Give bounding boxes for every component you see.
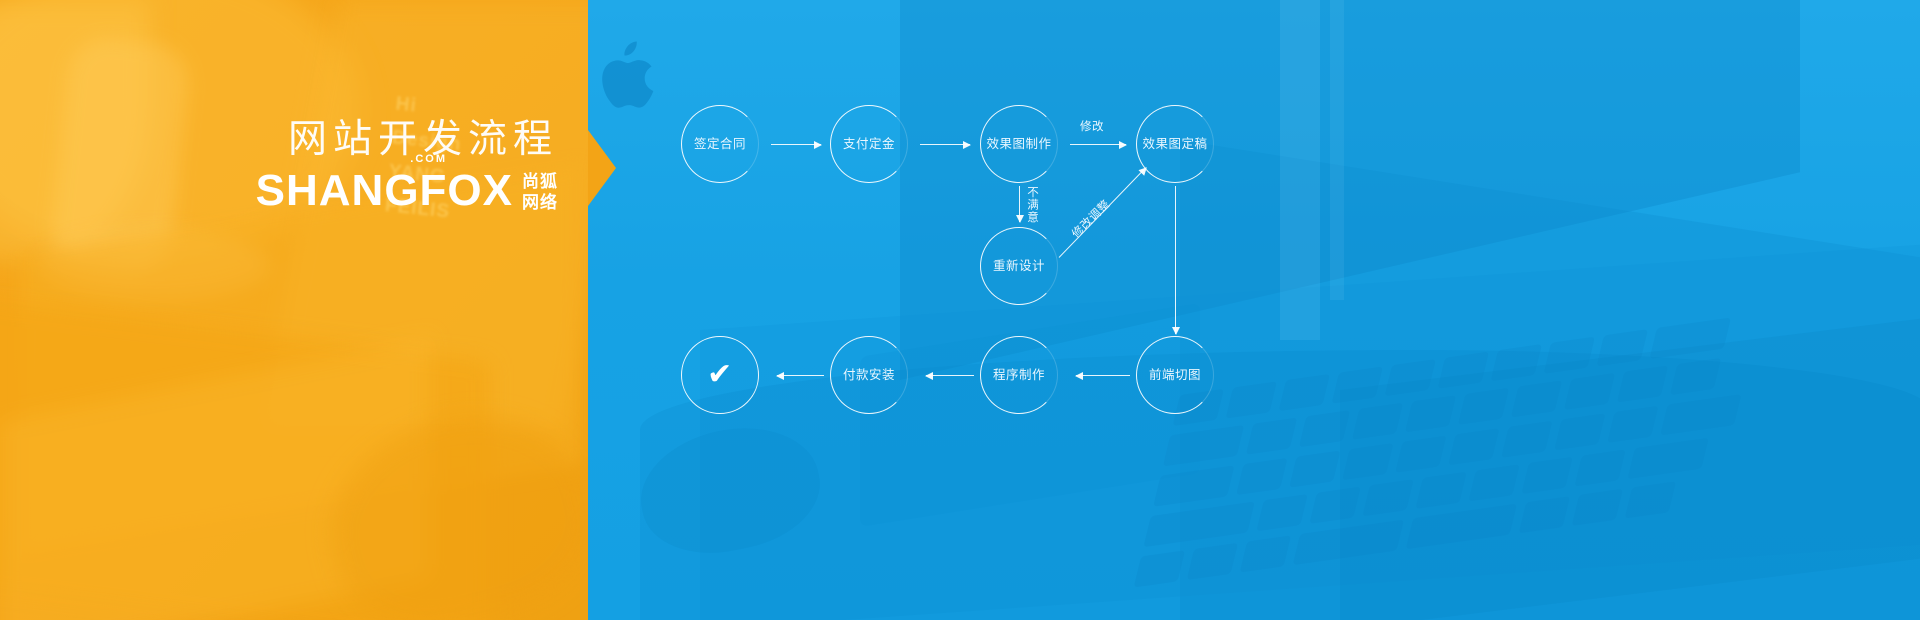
flow-arrow-1-2 (771, 144, 821, 145)
flow-node-label: 签定合同 (694, 137, 746, 151)
check-icon: ✔ (707, 360, 733, 390)
process-flowchart: 签定合同 支付定金 效果图制作 效果图定稿 修改 重新设计 不满意 修改调整 前… (0, 0, 1920, 620)
flow-node-label: 重新设计 (993, 259, 1045, 273)
flow-arrow-frontend-program (1076, 375, 1130, 376)
flow-node-complete[interactable]: ✔ (681, 336, 759, 414)
flow-node-sign-contract[interactable]: 签定合同 (681, 105, 759, 183)
flow-node-label: 支付定金 (843, 137, 895, 151)
flow-node-label: 前端切图 (1149, 368, 1201, 382)
flow-arrow-program-payment (926, 375, 974, 376)
flow-edge-label-not-satisfied: 不满意 (1026, 186, 1039, 224)
flow-arrow-3-redesign (1019, 186, 1020, 222)
flow-arrow-payment-complete (777, 375, 824, 376)
flow-node-label: 付款安装 (843, 368, 895, 382)
flow-node-program-development[interactable]: 程序制作 (980, 336, 1058, 414)
flow-node-redesign[interactable]: 重新设计 (980, 227, 1058, 305)
flow-arrow-2-3 (920, 144, 970, 145)
flow-edge-label-revise: 修改 (1080, 118, 1104, 134)
flow-edge-label-adjust: 修改调整 (1068, 196, 1113, 241)
flow-arrow-final-frontend (1175, 186, 1176, 334)
flow-node-label: 效果图制作 (986, 137, 1051, 151)
flow-node-pay-deposit[interactable]: 支付定金 (830, 105, 908, 183)
website-process-banner: HiDesignYANGFEILIS 网站开发流程 .COM SHANGFOX … (0, 0, 1920, 620)
flow-node-frontend-slicing[interactable]: 前端切图 (1136, 336, 1214, 414)
flow-arrow-3-4 (1070, 144, 1126, 145)
flow-node-label: 程序制作 (993, 368, 1045, 382)
flow-node-label: 效果图定稿 (1142, 137, 1207, 151)
flow-node-payment-install[interactable]: 付款安装 (830, 336, 908, 414)
flow-node-mockup-production[interactable]: 效果图制作 (980, 105, 1058, 183)
